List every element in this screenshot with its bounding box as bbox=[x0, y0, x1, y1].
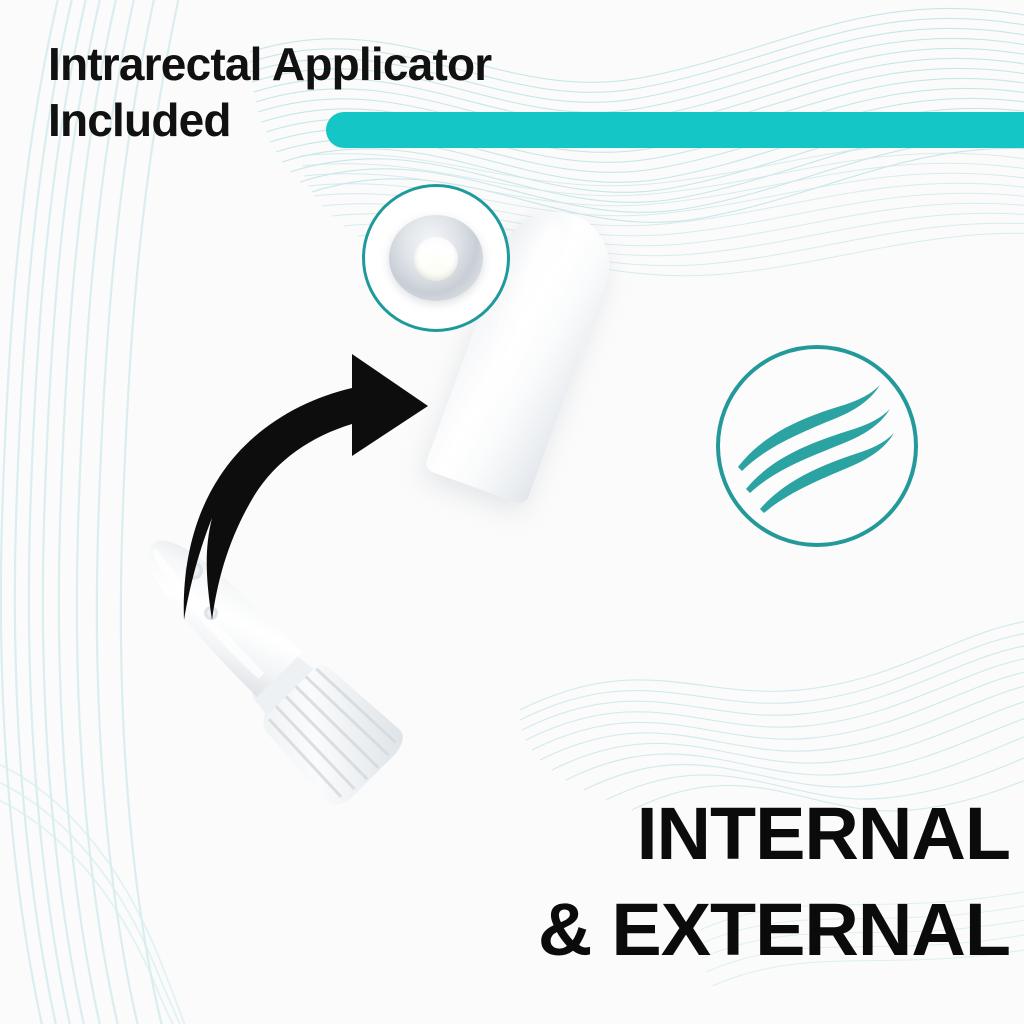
callout-line-1: INTERNAL bbox=[429, 786, 1010, 882]
tip-opening-hole bbox=[414, 237, 458, 281]
infographic-canvas: Intrarectal Applicator Included bbox=[0, 0, 1024, 1024]
page-title: Intrarectal Applicator Included bbox=[48, 36, 708, 148]
headline-line-1: Intrarectal Applicator bbox=[48, 36, 708, 92]
bottom-callout: INTERNAL & EXTERNAL bbox=[440, 786, 1010, 978]
soothing-waves-badge bbox=[716, 345, 918, 547]
applicator-tip-closeup bbox=[362, 184, 510, 332]
wave-lines-icon bbox=[720, 349, 914, 543]
curved-assembly-arrow bbox=[176, 318, 476, 628]
callout-line-2: & EXTERNAL bbox=[429, 882, 1010, 978]
headline-line-2: Included bbox=[48, 92, 708, 148]
tip-opening-outer-ring bbox=[389, 215, 483, 301]
